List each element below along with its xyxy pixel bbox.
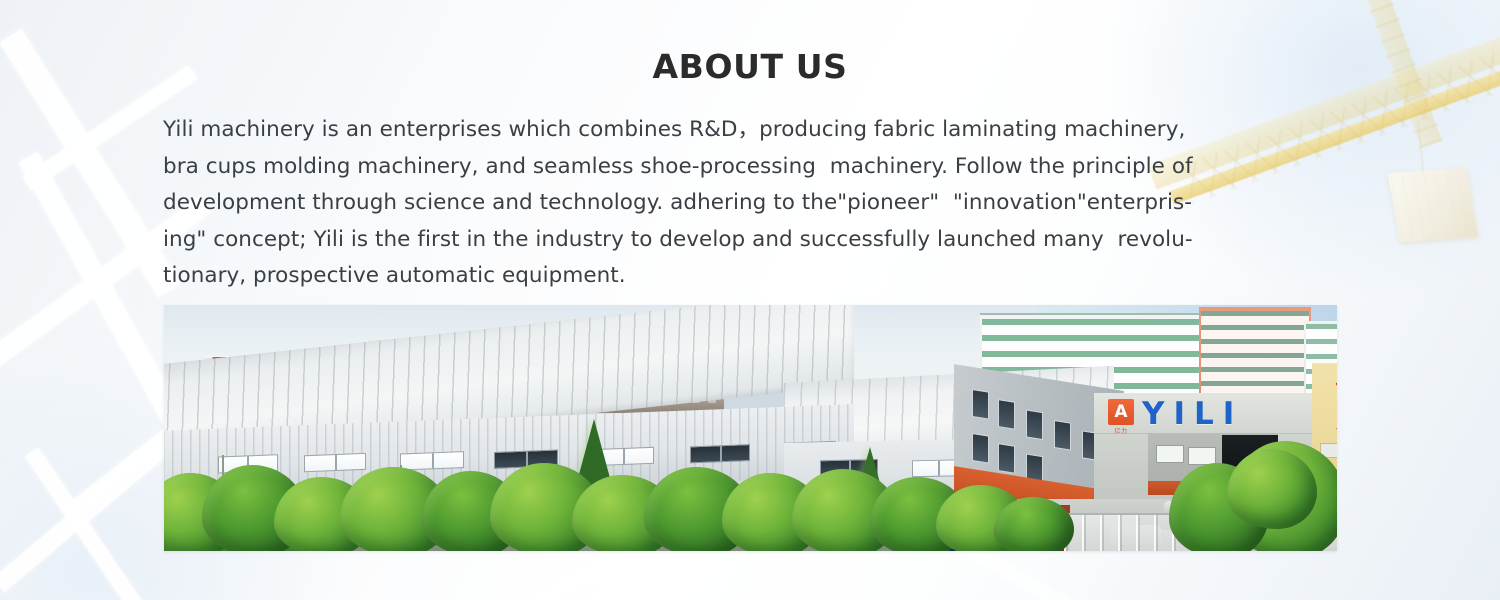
yili-sign-text: YILI: [1142, 396, 1243, 432]
tree-row: [164, 445, 1144, 551]
about-paragraph: Yili machinery is an enterprises which c…: [163, 112, 1343, 295]
tower-crane-load-block: [1388, 168, 1478, 242]
tree-cluster-right: [1117, 429, 1337, 551]
about-us-page: ABOUT US Yili machinery is an enterprise…: [0, 0, 1500, 600]
salmon-striped-building: [1199, 307, 1311, 399]
factory-photo: A 亿力 YILI 亿 力: [164, 305, 1337, 551]
yili-logo-mark-icon: A: [1108, 399, 1134, 425]
factory-photo-scene: A 亿力 YILI 亿 力: [164, 305, 1337, 551]
page-title: ABOUT US: [0, 47, 1500, 86]
tower-crane-load-block-face: [1390, 170, 1476, 240]
chinese-character-yi: 亿: [1324, 373, 1337, 403]
tower-crane-cable: [1417, 120, 1425, 180]
